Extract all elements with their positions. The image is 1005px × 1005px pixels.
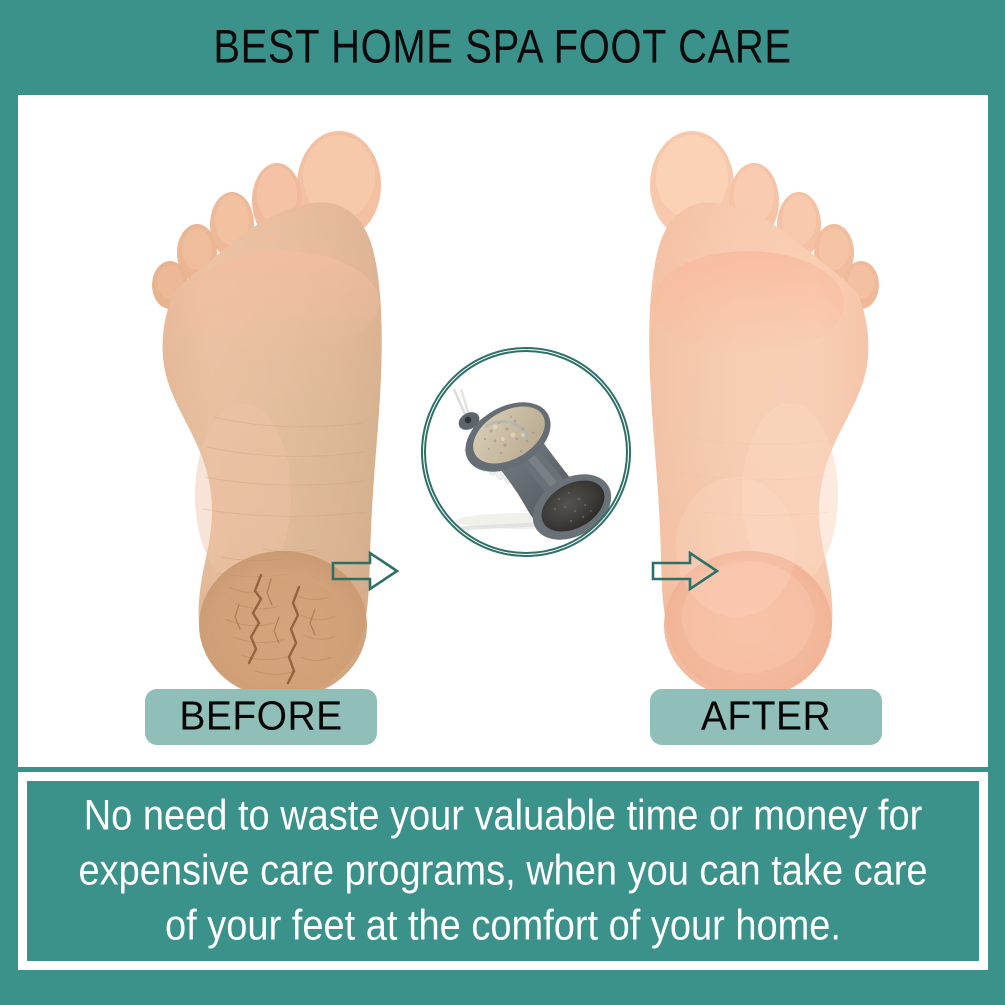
arrow-right-outline-left-icon [330,548,400,594]
tagline-line-3: of your feet at the comfort of your home… [78,898,927,953]
tagline-line-2: expensive care programs, when you can ta… [78,844,927,899]
tagline-text: No need to waste your valuable time or m… [60,789,945,954]
header-banner: BEST HOME SPA FOOT CARE [0,0,1005,95]
before-foot-image [143,117,413,697]
page-title: BEST HOME SPA FOOT CARE [213,21,791,74]
tagline-line-1: No need to waste your valuable time or m… [78,789,927,844]
after-label-badge: AFTER [650,689,882,745]
before-label-badge: BEFORE [145,689,377,745]
before-label-text: BEFORE [179,694,342,740]
arrow-right-outline-right-icon [650,548,720,594]
product-image-circle [421,347,631,557]
after-label-text: AFTER [701,694,831,740]
before-after-comparison-panel: BEFORE AFTER [18,95,988,767]
tagline-panel: No need to waste your valuable time or m… [18,772,988,970]
after-foot-image [618,117,888,697]
tagline-inner-border: No need to waste your valuable time or m… [24,778,982,964]
product-marketing-poster: BEST HOME SPA FOOT CARE [0,0,1005,1005]
